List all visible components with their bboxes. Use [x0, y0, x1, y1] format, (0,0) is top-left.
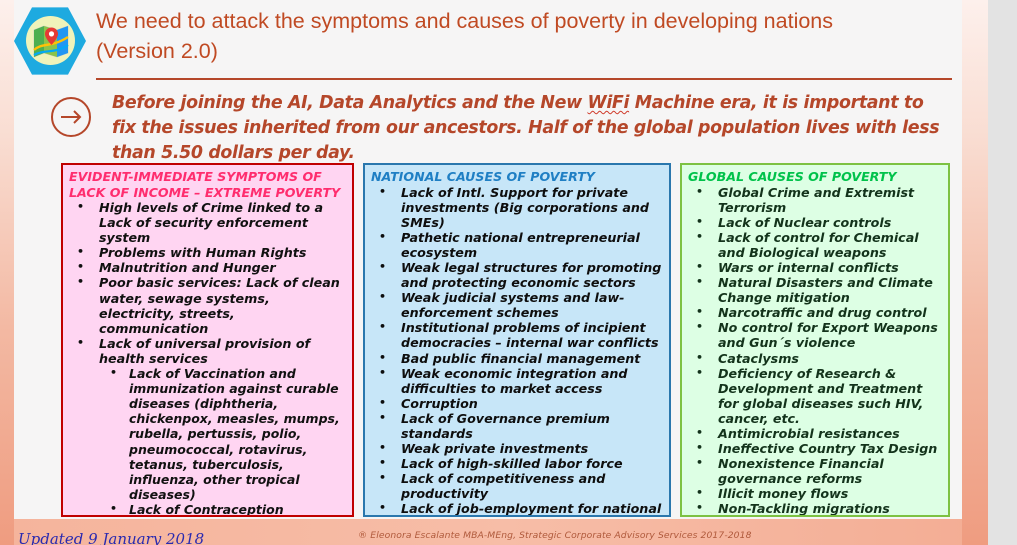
list-item: No control for Export Weapons and Gun´s … [686, 320, 942, 350]
list-item: Global Crime and Extremist Terrorism [686, 185, 942, 215]
page-title-line1: We need to attack the symptoms and cause… [96, 6, 948, 36]
bullet-list-global: Global Crime and Extremist TerrorismLack… [686, 185, 942, 518]
list-item: High levels of Crime linked to a Lack of… [67, 200, 346, 245]
list-item: Deficiency of Research & Development and… [686, 366, 942, 426]
subtitle-part1: Before joining the AI, Data Analytics an… [112, 93, 587, 113]
subtitle-block: Before joining the AI, Data Analytics an… [36, 88, 948, 158]
list-item: Lack of universal provision of health se… [67, 336, 346, 366]
page-outside-area [988, 0, 1017, 545]
panel-title-national: NATIONAL CAUSES OF POVERTY [369, 169, 663, 185]
list-item: Natural Disasters and Climate Change mit… [686, 275, 942, 305]
map-pin-icon [33, 24, 69, 58]
panel-national-causes: NATIONAL CAUSES OF POVERTY Lack of Intl.… [363, 163, 671, 517]
list-item: Institutional problems of incipient demo… [369, 320, 663, 350]
list-item: Nonexistence Financial governance reform… [686, 456, 942, 486]
list-item: Weak private investments [369, 441, 663, 456]
slide-header: We need to attack the symptoms and cause… [14, 0, 962, 88]
page-title: We need to attack the symptoms and cause… [96, 6, 948, 66]
arrow-right-circle-icon [50, 96, 92, 138]
panel-title-symptoms: EVIDENT-IMMEDIATE SYMPTOMS OF LACK OF IN… [67, 169, 346, 200]
list-item: Weak judicial systems and law-enforcemen… [369, 290, 663, 320]
slide-canvas: We need to attack the symptoms and cause… [14, 0, 962, 519]
panel-evident-immediate-symptoms: EVIDENT-IMMEDIATE SYMPTOMS OF LACK OF IN… [61, 163, 354, 517]
map-pin-hexagon-logo [14, 6, 86, 76]
list-item: Weak legal structures for promoting and … [369, 260, 663, 290]
list-item: Illicit money flows [686, 486, 942, 501]
list-item: Corruption [369, 396, 663, 411]
list-item: Lack of Nuclear controls [686, 215, 942, 230]
panel-title-global: GLOBAL CAUSES OF POVERTY [686, 169, 942, 185]
list-item: Weak economic integration and difficulti… [369, 366, 663, 396]
panel-global-causes: GLOBAL CAUSES OF POVERTY Global Crime an… [680, 163, 950, 517]
list-item: Wars or internal conflicts [686, 260, 942, 275]
list-item: Ineffective Country Tax Design [686, 441, 942, 456]
list-item: Problems with Human Rights [67, 245, 346, 260]
list-item: Lack of Governance premium standards [369, 411, 663, 441]
bullet-list-symptoms: High levels of Crime linked to a Lack of… [67, 200, 346, 517]
list-item: Lack of Vaccination and immunization aga… [67, 366, 346, 502]
list-item: Narcotraffic and drug control [686, 305, 942, 320]
list-item: Lack of job-employment for national work… [369, 501, 663, 517]
list-item: Cataclysms [686, 351, 942, 366]
header-divider [96, 78, 952, 80]
list-item: Non-Tackling migrations [686, 501, 942, 516]
list-item: Lack of competitiveness and productivity [369, 471, 663, 501]
bullet-list-national: Lack of Intl. Support for private invest… [369, 185, 663, 518]
page-title-line2: (Version 2.0) [96, 36, 948, 66]
footer-copyright: ® Eleonora Escalante MBA-MEng, Strategic… [358, 530, 752, 541]
list-item: Antimicrobial resistances [686, 426, 942, 441]
list-item: Bad public financial management [369, 351, 663, 366]
decorative-left-edge [0, 0, 14, 545]
list-item: Lack of control for Chemical and Biologi… [686, 230, 942, 260]
footer-updated-date: Updated 9 January 2018 [18, 530, 204, 545]
list-item: Pathetic national entrepreneurial ecosys… [369, 230, 663, 260]
subtitle-misspelled-word: WiFi [587, 93, 629, 113]
list-item: Lack of Intl. Support for private invest… [369, 185, 663, 230]
decorative-right-edge [962, 0, 988, 545]
list-item: Lack of high-skilled labor force [369, 456, 663, 471]
list-item: Lack of Contraception [67, 502, 346, 517]
subtitle-text: Before joining the AI, Data Analytics an… [112, 91, 940, 166]
slide: We need to attack the symptoms and cause… [0, 0, 1017, 545]
list-item: Malnutrition and Hunger [67, 260, 346, 275]
list-item: Poor basic services: Lack of clean water… [67, 275, 346, 335]
poverty-columns: EVIDENT-IMMEDIATE SYMPTOMS OF LACK OF IN… [61, 163, 950, 517]
